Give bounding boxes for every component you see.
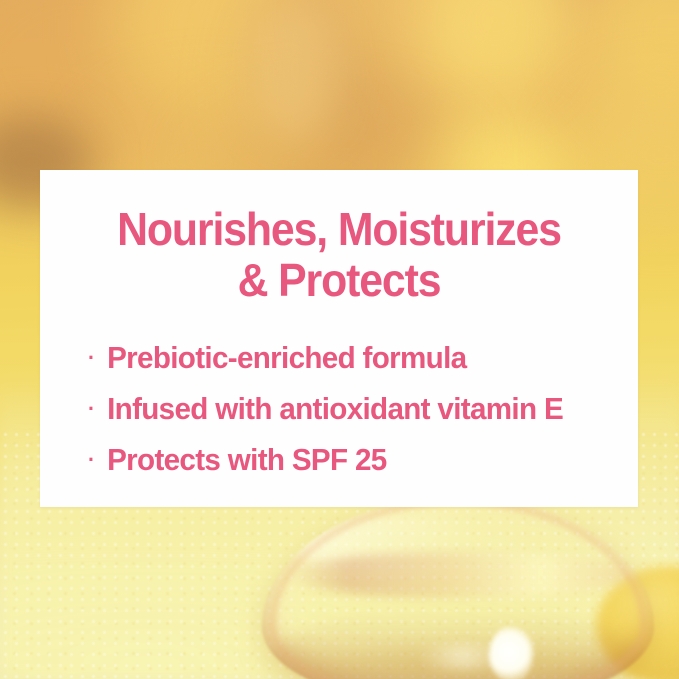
list-item: · Prebiotic-enriched formula xyxy=(88,332,592,383)
softgel-capsule xyxy=(262,497,654,679)
bullet-icon: · xyxy=(88,347,94,369)
benefits-card: Nourishes, Moisturizes & Protects · Preb… xyxy=(40,170,638,507)
bullet-icon: · xyxy=(88,398,94,420)
benefits-card-content: Nourishes, Moisturizes & Protects · Preb… xyxy=(40,170,638,507)
list-item-label: Prebiotic-enriched formula xyxy=(107,340,466,375)
list-item: · Infused with antioxidant vitamin E xyxy=(88,383,592,434)
bullet-icon: · xyxy=(88,449,94,471)
list-item-label: Protects with SPF 25 xyxy=(107,442,386,477)
page-title: Nourishes, Moisturizes & Protects xyxy=(81,204,596,306)
list-item-label: Infused with antioxidant vitamin E xyxy=(107,391,563,426)
list-item: · Protects with SPF 25 xyxy=(88,434,592,485)
benefits-list: · Prebiotic-enriched formula · Infused w… xyxy=(88,332,616,485)
product-benefit-graphic: Nourishes, Moisturizes & Protects · Preb… xyxy=(0,0,679,679)
capsule-specular-highlight xyxy=(489,627,533,679)
